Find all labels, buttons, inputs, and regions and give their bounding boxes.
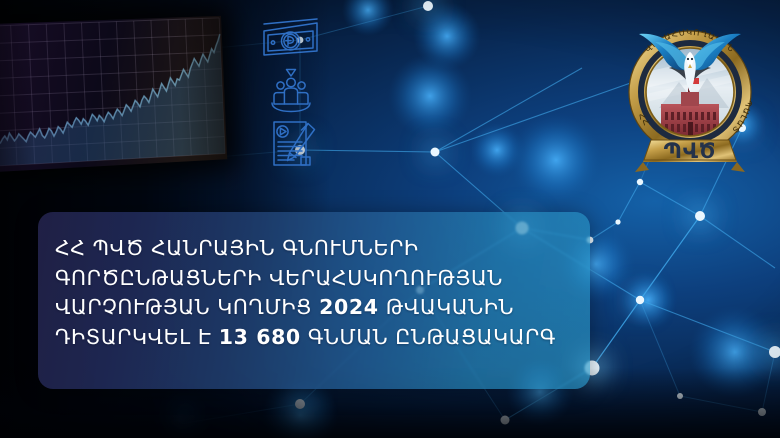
infographic-canvas: ՎԵՐԱՀՍԿՈՂԱԿԱՆ ՀՀ ՊԱԼԱՏ <box>0 0 780 438</box>
headline-line-4-pre: ԴԻՏԱՐԿՎԵԼ Է <box>55 325 219 349</box>
icon-column <box>251 18 331 178</box>
headline-line-4-post: ԳՆՄԱՆ ԸՆԹԱՑԱԿԱՐԳ <box>301 325 556 349</box>
headline-panel: ՀՀ ՊՎԾ ՀԱՆՐԱՅԻՆ ԳՆՈՒՄՆԵՐԻ ԳՈՐԾԸՆԹԱՑՆԵՐԻ … <box>38 212 590 389</box>
headline-count: 13 680 <box>219 325 301 349</box>
headline-line-4: ԴԻՏԱՐԿՎԵԼ Է 13 680 ԳՆՄԱՆ ԸՆԹԱՑԱԿԱՐԳ <box>55 323 578 353</box>
headline-line-1: ՀՀ ՊՎԾ ՀԱՆՐԱՅԻՆ ԳՆՈՒՄՆԵՐԻ <box>55 234 578 264</box>
emblem-banner: ՊՎԾ <box>635 139 745 172</box>
chart-edge-fade <box>0 16 227 172</box>
headline-line-3-post: ԹՎԱԿԱՆԻՆ <box>379 295 514 319</box>
headline-year: 2024 <box>319 295 378 319</box>
headline-line-3-pre: ՎԱՐՉՈՒԹՅԱՆ ԿՈՂՄԻՑ <box>55 295 319 319</box>
people-group-icon <box>251 68 331 114</box>
headline-line-3: ՎԱՐՉՈՒԹՅԱՆ ԿՈՂՄԻՑ 2024 ԹՎԱԿԱՆԻՆ <box>55 293 578 323</box>
document-pencil-icon <box>251 119 331 169</box>
stock-chart-graphic <box>0 16 227 172</box>
headline-line-2: ԳՈՐԾԸՆԹԱՑՆԵՐԻ ՎԵՐԱՀՍԿՈՂՈՒԹՅԱՆ <box>55 264 578 294</box>
banknote-dram-icon <box>251 18 331 60</box>
state-audit-office-emblem: ՎԵՐԱՀՍԿՈՂԱԿԱՆ ՀՀ ՊԱԼԱՏ <box>607 12 773 180</box>
emblem-banner-text: ՊՎԾ <box>664 139 717 163</box>
headline-text-block: ՀՀ ՊՎԾ ՀԱՆՐԱՅԻՆ ԳՆՈՒՄՆԵՐԻ ԳՈՐԾԸՆԹԱՑՆԵՐԻ … <box>55 234 578 352</box>
